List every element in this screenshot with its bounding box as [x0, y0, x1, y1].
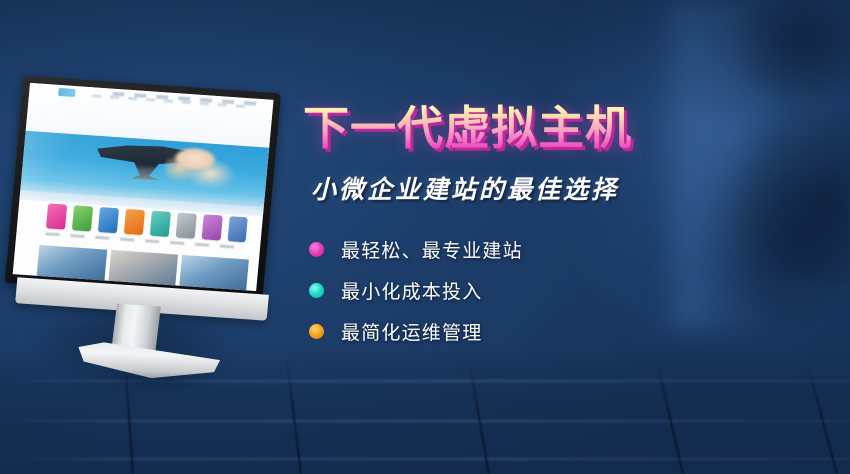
app-icon-1 — [46, 203, 67, 229]
desktop-monitor — [6, 72, 296, 412]
list-item: 最小化成本投入 — [309, 277, 823, 304]
bullet-dot-teal — [309, 283, 324, 298]
feature-label: 最小化成本投入 — [341, 277, 482, 304]
app-icon-5 — [150, 211, 171, 237]
feature-list: 最轻松、最专业建站 最小化成本投入 最简化运维管理 — [309, 236, 823, 345]
thumbnail-1 — [37, 245, 107, 280]
app-icon-4 — [124, 209, 145, 235]
promo-text-block: 下一代虚拟主机 小微企业建站的最佳选择 最轻松、最专业建站 最小化成本投入 最简… — [303, 104, 823, 359]
bullet-dot-orange — [309, 324, 324, 339]
thumbnail-3 — [179, 255, 249, 290]
website-logo — [58, 88, 76, 97]
person-photo — [162, 143, 239, 196]
page-subtitle: 小微企业建站的最佳选择 — [311, 170, 823, 206]
app-icon-8 — [227, 216, 248, 242]
floor-line-3 — [0, 458, 850, 460]
app-icon-3 — [98, 207, 119, 233]
list-item: 最轻松、最专业建站 — [309, 236, 823, 263]
bullet-dot-magenta — [309, 242, 324, 257]
thumbnail-2 — [108, 250, 178, 285]
app-icon-7 — [201, 214, 222, 240]
monitor-display — [5, 75, 281, 300]
list-item: 最简化运维管理 — [309, 318, 823, 345]
app-icon-6 — [175, 213, 196, 239]
feature-label: 最轻松、最专业建站 — [341, 236, 523, 263]
promo-banner: 下一代虚拟主机 小微企业建站的最佳选择 最轻松、最专业建站 最小化成本投入 最简… — [0, 0, 850, 474]
app-icon-2 — [72, 205, 93, 231]
monitor-screen — [13, 83, 274, 291]
page-title: 下一代虚拟主机 — [303, 104, 823, 153]
feature-label: 最简化运维管理 — [341, 318, 482, 345]
